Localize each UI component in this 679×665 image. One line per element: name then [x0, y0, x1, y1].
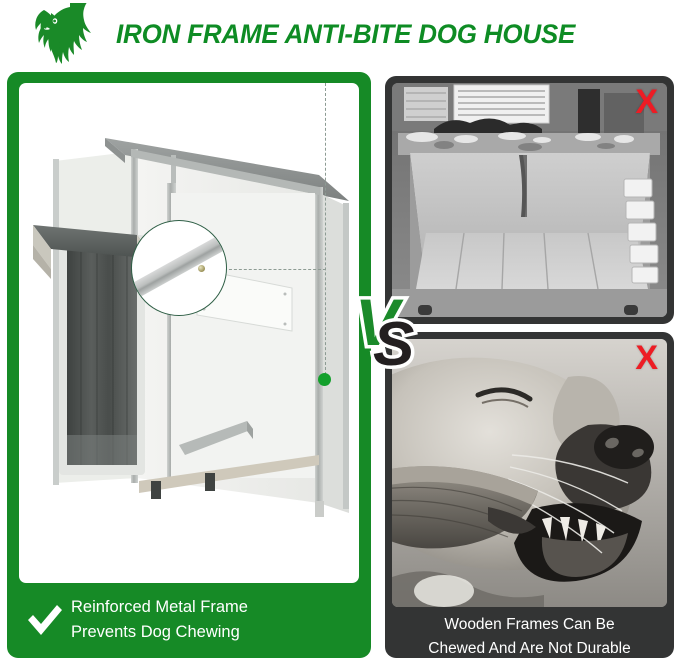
- left-product-panel: Reinforced Metal Frame Prevents Dog Chew…: [7, 72, 371, 658]
- check-icon: [19, 603, 71, 637]
- right-caption-line2: Chewed And Are Not Durable: [392, 637, 667, 661]
- dog-chewing-wood-photo: X: [392, 339, 667, 607]
- left-caption: Reinforced Metal Frame Prevents Dog Chew…: [19, 591, 359, 649]
- screw-icon: [198, 265, 205, 272]
- page-title: IRON FRAME ANTI-BITE DOG HOUSE: [116, 19, 575, 50]
- dog-house-illustration: [19, 83, 359, 583]
- header: IRON FRAME ANTI-BITE DOG HOUSE: [0, 0, 679, 68]
- green-dot-marker-icon: [318, 373, 331, 386]
- red-x-icon: X: [635, 341, 658, 375]
- dog-chewing-wood-panel: X Wooden Frames Can Be Chewed And Are No…: [385, 332, 674, 658]
- left-caption-line1: Reinforced Metal Frame: [71, 595, 248, 620]
- metal-bar-detail: [131, 220, 227, 306]
- versus-badge: V V S S: [355, 287, 421, 369]
- left-caption-text: Reinforced Metal Frame Prevents Dog Chew…: [71, 595, 248, 645]
- red-x-icon: X: [635, 85, 658, 119]
- svg-text:S: S: [373, 310, 414, 369]
- product-image-area: [19, 83, 359, 583]
- callout-leader-horizontal: [224, 269, 326, 270]
- right-caption: Wooden Frames Can Be Chewed And Are Not …: [392, 613, 667, 661]
- frame-detail-callout: [131, 220, 227, 316]
- chewed-dog-house-panel: X: [385, 76, 674, 324]
- left-caption-line2: Prevents Dog Chewing: [71, 620, 248, 645]
- right-caption-line1: Wooden Frames Can Be: [392, 613, 667, 637]
- page-root: IRON FRAME ANTI-BITE DOG HOUSE: [0, 0, 679, 665]
- callout-leader-vertical: [325, 83, 326, 375]
- chewed-dog-house-photo: X: [392, 83, 667, 317]
- dog-head-logo-icon: [18, 3, 114, 65]
